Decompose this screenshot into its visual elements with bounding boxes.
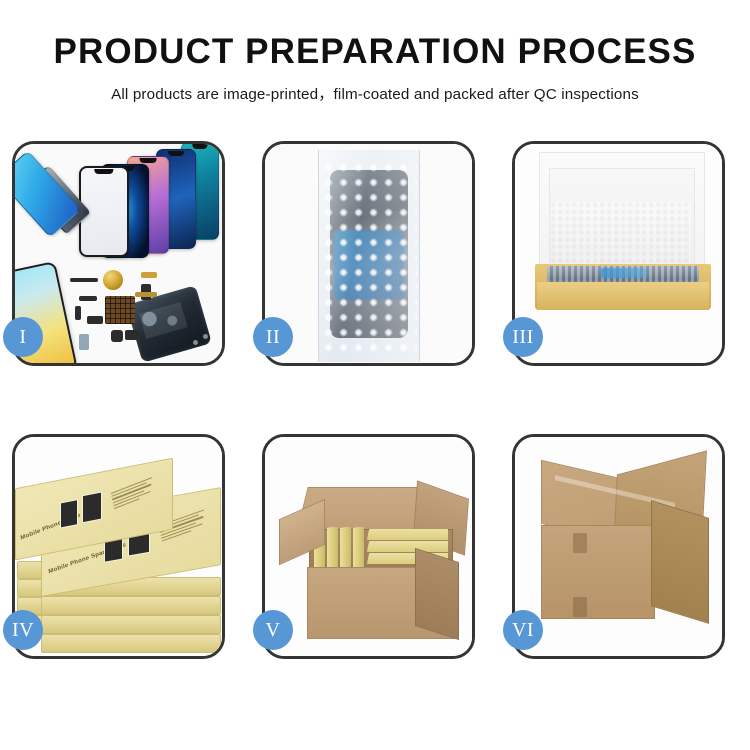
step-badge-4: IV	[3, 610, 43, 650]
step-4-image: Mobile Phone Spare Parts Mobile Phone Sp…	[15, 437, 222, 656]
step-badge-2: II	[253, 317, 293, 357]
foam-liner	[551, 202, 691, 264]
packed-box	[367, 529, 411, 540]
process-steps-grid: I II III	[12, 141, 739, 659]
bracket-part	[125, 330, 139, 340]
battery-part	[79, 334, 89, 350]
screw-part	[79, 296, 97, 301]
page-subtitle: All products are image-printed，film-coat…	[0, 82, 750, 104]
packed-box	[340, 527, 351, 571]
step-5-image	[265, 437, 472, 656]
packed-box	[407, 541, 448, 552]
product-blue-accent	[601, 268, 647, 278]
carton-side-face	[415, 548, 459, 640]
step-panel-2[interactable]: II	[262, 141, 475, 366]
packed-box	[367, 541, 411, 552]
carton-flap-tab	[573, 597, 587, 617]
carton-flap-tab	[573, 533, 587, 553]
carton-side-face	[651, 500, 709, 624]
box-screen-graphic	[60, 499, 78, 528]
notch	[192, 144, 207, 149]
plastic-gloss-overlay	[319, 144, 419, 363]
taptic-part	[87, 316, 103, 324]
step-6-image	[515, 437, 722, 656]
page-title: PRODUCT PREPARATION PROCESS	[0, 34, 750, 71]
page-header: PRODUCT PREPARATION PROCESS All products…	[0, 0, 750, 104]
retail-box	[41, 634, 221, 653]
button-part	[141, 272, 157, 278]
step-badge-6: VI	[503, 610, 543, 650]
carton-front-face	[541, 525, 655, 619]
step-3-image	[515, 144, 722, 363]
step-panel-4[interactable]: Mobile Phone Spare Parts Mobile Phone Sp…	[12, 434, 225, 659]
screw-part	[203, 334, 208, 339]
flex-cable-part	[135, 292, 157, 297]
notch	[140, 158, 157, 163]
retail-box	[41, 615, 221, 634]
packed-box	[367, 553, 411, 564]
step-badge-1: I	[3, 317, 43, 357]
flex-cable-part	[70, 278, 98, 282]
step-1-image	[15, 144, 222, 363]
step-2-image	[265, 144, 472, 363]
kraft-box-front	[537, 282, 709, 310]
speaker-coil-part	[103, 270, 123, 290]
notch	[168, 151, 184, 156]
box-stack: Mobile Phone Spare Parts Mobile Phone Sp…	[15, 437, 222, 656]
packed-box	[327, 527, 338, 571]
camera-part	[111, 330, 123, 342]
logic-board-part	[105, 296, 135, 324]
retail-box	[41, 596, 221, 615]
screw-part	[193, 340, 198, 345]
notch	[94, 169, 113, 174]
step-badge-3: III	[503, 317, 543, 357]
step-panel-1[interactable]: I	[12, 141, 225, 366]
step-badge-5: V	[253, 610, 293, 650]
step-panel-6[interactable]: VI	[512, 434, 725, 659]
box-screen-graphic	[82, 491, 102, 523]
step-panel-5[interactable]: V	[262, 434, 475, 659]
packed-box	[407, 529, 448, 540]
step-panel-3[interactable]: III	[512, 141, 725, 366]
packed-box	[353, 527, 364, 571]
connector-part	[75, 306, 81, 320]
